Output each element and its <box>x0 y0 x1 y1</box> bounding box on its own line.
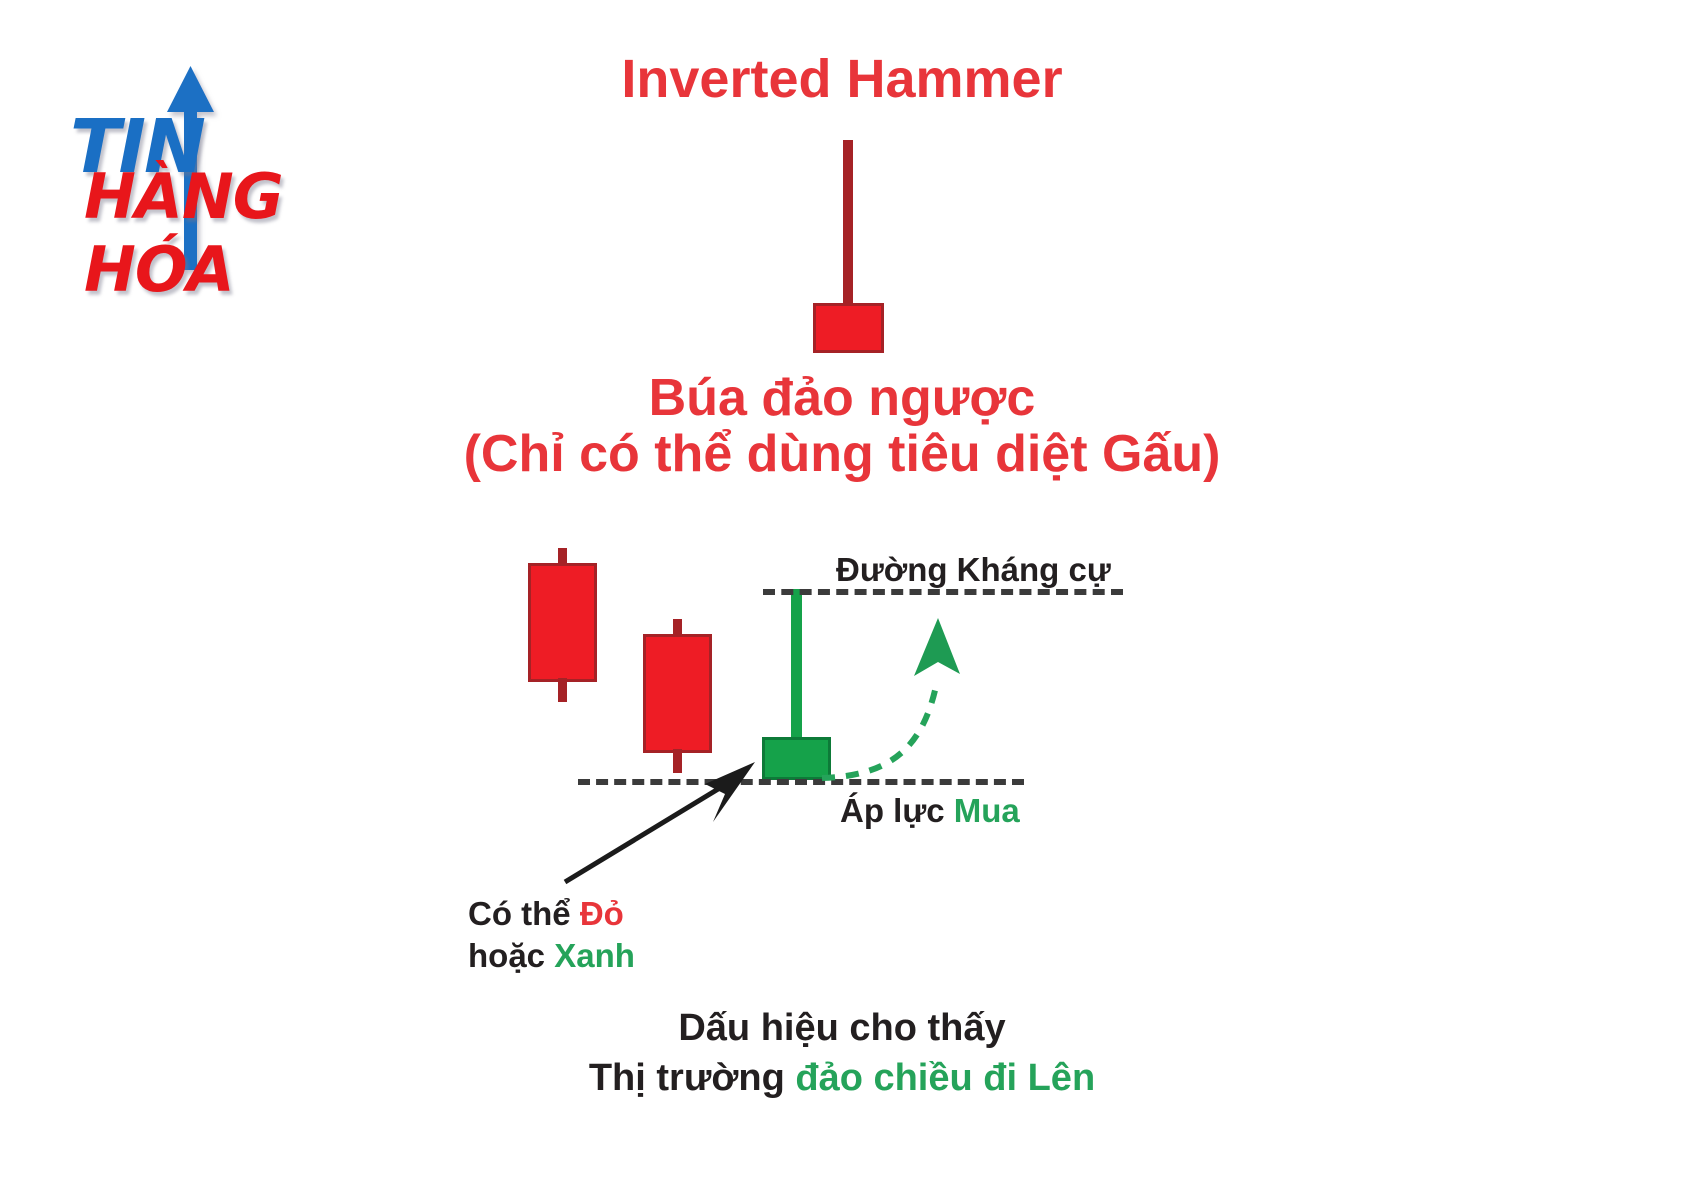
conclusion-line-1: Dấu hiệu cho thấy <box>0 1003 1684 1053</box>
bearish-candle-1-lower-wick <box>558 678 567 702</box>
color-note-prefix-1: Có thể <box>468 895 580 932</box>
signal-candle-upper-wick <box>791 589 802 741</box>
resistance-line <box>763 589 1123 595</box>
conclusion-line-2-prefix: Thị trường <box>589 1057 796 1099</box>
buy-pressure-accent: Mua <box>954 792 1020 829</box>
conclusion-line-2-accent: đảo chiều đi Lên <box>795 1057 1095 1099</box>
buy-pressure-prefix: Áp lực <box>840 792 954 829</box>
candle-color-note-line-1: Có thể Đỏ <box>468 893 635 935</box>
bearish-candle-1-body <box>528 563 597 682</box>
color-note-accent-green: Xanh <box>554 937 635 974</box>
conclusion-note: Dấu hiệu cho thấy Thị trường đảo chiều đ… <box>0 1003 1684 1103</box>
buy-pressure-label: Áp lực Mua <box>840 792 1020 830</box>
candle-color-note: Có thể Đỏ hoặc Xanh <box>468 893 635 977</box>
pointer-arrow-icon <box>555 750 805 890</box>
breakout-arrow-icon <box>810 600 1030 800</box>
color-note-prefix-2: hoặc <box>468 937 554 974</box>
resistance-label: Đường Kháng cự <box>836 551 1111 589</box>
diagram-canvas: TIN HÀNG HÓA Inverted Hammer Búa đảo ngư… <box>0 0 1684 1191</box>
conclusion-line-2: Thị trường đảo chiều đi Lên <box>0 1053 1684 1103</box>
bearish-candle-2-body <box>643 634 712 753</box>
candle-color-note-line-2: hoặc Xanh <box>468 935 635 977</box>
color-note-accent-red: Đỏ <box>580 895 624 932</box>
